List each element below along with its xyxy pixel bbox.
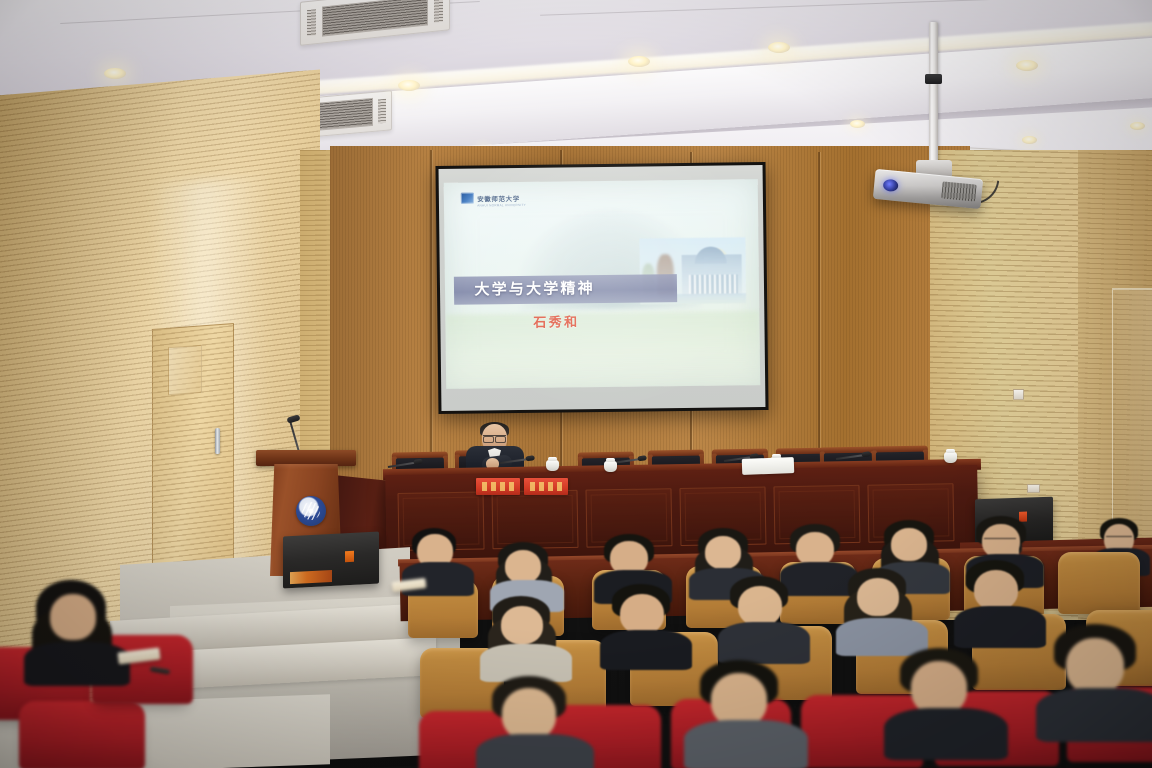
ceiling-downlight [398,80,420,91]
audience-person [492,596,558,668]
slide-university-logo: 安徽师范大学 ANHUI NORMAL UNIVERSITY [461,192,520,204]
university-logo-mark-icon [461,193,474,204]
auditorium-seat[interactable] [24,706,140,768]
projector-mount-pole [929,22,938,167]
audience-person [1054,624,1146,728]
glasses-icon [483,435,506,440]
audience-person [36,580,114,670]
university-seal-icon [296,496,326,526]
tissue-box [742,457,795,475]
auditorium-seat[interactable] [1058,552,1140,614]
presentation-slide: 安徽师范大学 ANHUI NORMAL UNIVERSITY 大学与大学精神 [444,179,760,389]
audience-person [492,676,576,768]
ceiling-downlight [1022,136,1037,144]
wall-outlet [1027,484,1040,493]
audience-person [730,576,796,650]
slide-field-graphic [445,311,760,389]
name-placard [524,478,568,495]
slide-speaker-name: 石秀和 [533,311,579,331]
audience-person [900,648,988,748]
photo-colonnade [689,274,738,294]
audience-person [700,660,788,758]
ceiling-downlight [850,120,865,128]
teacup [546,460,559,471]
audience-person [498,542,556,604]
floor-loudspeaker [283,531,379,588]
lectern-top [256,450,356,466]
projector-pole-joint [925,74,942,84]
ceiling-downlight [628,56,650,67]
projection-screen: 安徽师范大学 ANHUI NORMAL UNIVERSITY 大学与大学精神 [435,162,768,414]
table-panel [492,490,579,549]
name-placard [476,478,520,495]
screen-surface: 安徽师范大学 ANHUI NORMAL UNIVERSITY 大学与大学精神 [439,165,766,411]
door-vision-panel [168,345,202,395]
projector-lens-icon [883,179,899,192]
light-switch[interactable] [1013,389,1024,400]
projector-vent [941,181,976,201]
speaker-label [290,570,332,584]
slide-title-band: 大学与大学精神 [454,274,677,305]
teacup [604,461,617,472]
door-handle-icon[interactable] [215,428,220,454]
speaker-indicator-icon [345,551,354,562]
university-wordmark: 安徽师范大学 [477,193,520,204]
audience-person [966,560,1032,634]
lecture-hall-photo: 安徽师范大学 ANHUI NORMAL UNIVERSITY 大学与大学精神 [0,0,1152,768]
ceiling-downlight [104,68,126,79]
ceiling-downlight [1130,122,1145,130]
ceiling-downlight [768,42,790,53]
slide-title: 大学与大学精神 [474,281,595,297]
audience-person [848,568,914,642]
teacup [944,452,957,463]
university-subwordmark: ANHUI NORMAL UNIVERSITY [477,203,526,208]
audience-person [612,584,678,656]
ceiling-downlight [1016,60,1038,71]
audience-person [790,524,848,588]
right-rear-door-header [1112,288,1152,290]
